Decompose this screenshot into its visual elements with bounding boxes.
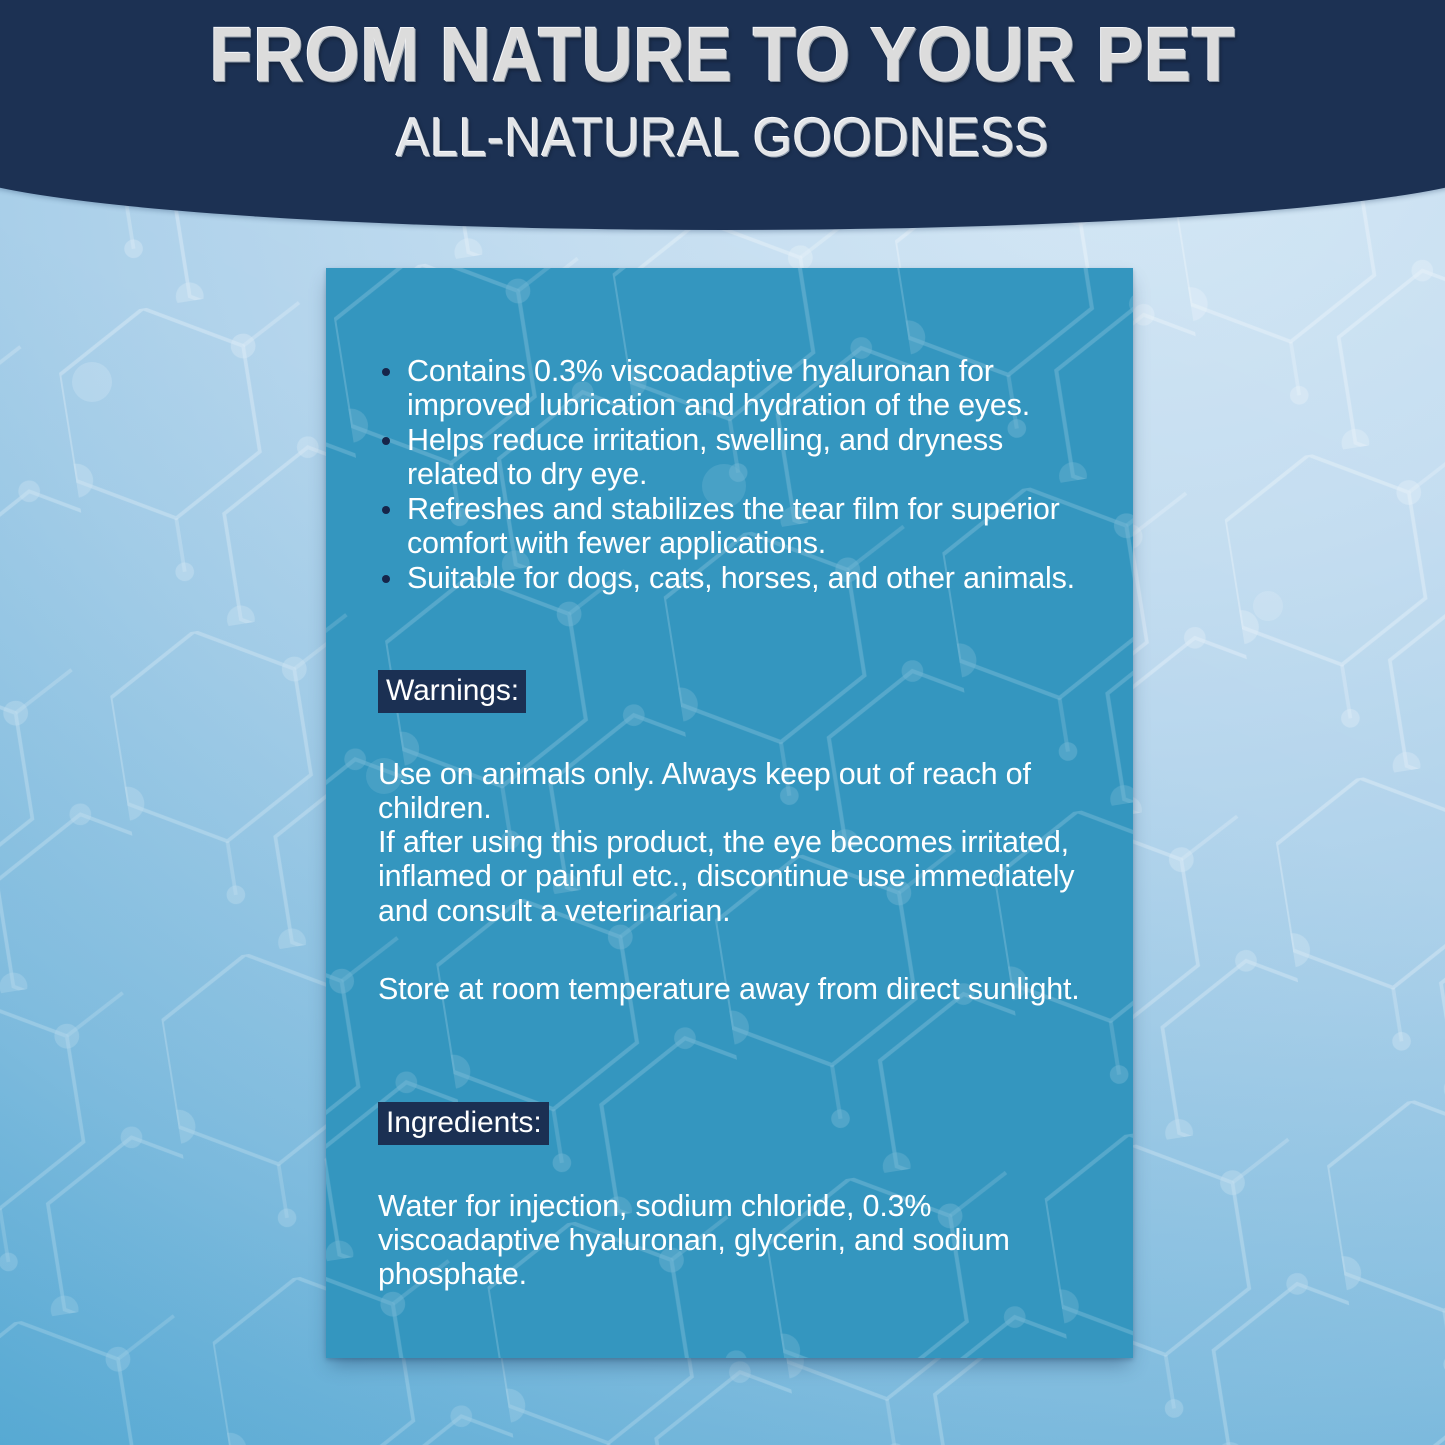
list-item: Helps reduce irritation, swelling, and d…: [378, 423, 1099, 491]
benefits-list: Contains 0.3% viscoadaptive hyaluronan f…: [378, 354, 1099, 595]
list-item: Refreshes and stabilizes the tear film f…: [378, 492, 1099, 560]
spacer: [378, 596, 1099, 670]
spacer: [378, 928, 1099, 972]
warnings-section: Warnings: Use on animals only. Always ke…: [378, 670, 1099, 1006]
ingredients-section: Ingredients: Water for injection, sodium…: [378, 1102, 1099, 1291]
warnings-body: Use on animals only. Always keep out of …: [378, 757, 1099, 928]
storage-instructions: Store at room temperature away from dire…: [378, 972, 1099, 1006]
header-banner: FROM NATURE TO YOUR PET ALL-NATURAL GOOD…: [0, 0, 1445, 230]
product-info-graphic: FROM NATURE TO YOUR PET ALL-NATURAL GOOD…: [0, 0, 1445, 1445]
ingredients-label: Ingredients:: [378, 1102, 549, 1145]
page-subtitle: ALL-NATURAL GOODNESS: [58, 95, 1387, 169]
spacer: [378, 1145, 1099, 1189]
list-item: Suitable for dogs, cats, horses, and oth…: [378, 561, 1099, 595]
page-title: FROM NATURE TO YOUR PET: [58, 0, 1387, 95]
spacer: [378, 713, 1099, 757]
spacer: [378, 1006, 1099, 1102]
card-content: Contains 0.3% viscoadaptive hyaluronan f…: [326, 268, 1133, 1358]
warnings-label: Warnings:: [378, 670, 526, 713]
list-item: Contains 0.3% viscoadaptive hyaluronan f…: [378, 354, 1099, 422]
product-info-card: Contains 0.3% viscoadaptive hyaluronan f…: [326, 268, 1133, 1358]
ingredients-body: Water for injection, sodium chloride, 0.…: [378, 1189, 1099, 1291]
